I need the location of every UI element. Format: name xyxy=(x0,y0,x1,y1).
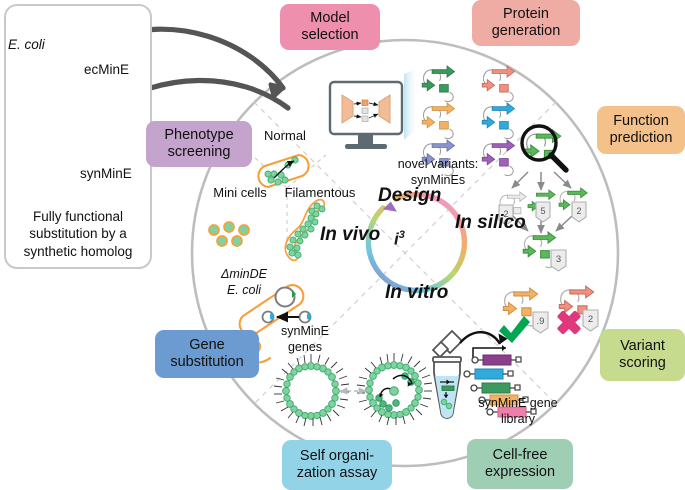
figure-root: 2 5 2 xyxy=(0,0,685,490)
pill-protein-generation[interactable]: Protein generation xyxy=(472,0,580,46)
synmine-genes-line2: genes xyxy=(266,340,344,356)
phenotype-normal-label: Normal xyxy=(250,129,320,144)
i3-cycle-arrow xyxy=(368,194,464,290)
pill-phenotype-screening-line1: Phenotype xyxy=(164,127,233,144)
function-prediction-magnifier xyxy=(522,126,566,170)
i3-superscript: 3 xyxy=(399,229,405,241)
in-silico-line1: In xyxy=(455,212,472,233)
pill-gene-substitution-line1: Gene xyxy=(189,337,224,354)
variant-scoring-pass: .9 xyxy=(499,288,548,343)
synmine-label: synMinE xyxy=(80,166,150,182)
cycle-label-in-vitro: In vitro xyxy=(385,282,448,304)
pill-cell-free-expression-line1: Cell-free xyxy=(493,447,548,464)
inset-caption-line1: Fully functional xyxy=(6,208,150,225)
synmine-genes-line1: synMinE xyxy=(266,324,344,340)
i3-center-symbol: i3 xyxy=(394,229,405,250)
tag-text: 2 xyxy=(576,206,581,216)
design-monitor xyxy=(330,68,418,149)
in-silico-line2: silico xyxy=(477,212,526,233)
pill-model-selection-line2: selection xyxy=(301,27,358,44)
synmine-genes-label: synMinE genes xyxy=(266,324,344,355)
pill-variant-scoring[interactable]: Variant scoring xyxy=(600,329,685,381)
pill-protein-generation-line2: generation xyxy=(492,23,561,40)
construct-3 xyxy=(471,383,520,393)
phenotype-filamentous-label: Filamentous xyxy=(278,186,362,201)
phenotype-mini-cells xyxy=(209,222,249,246)
pill-model-selection-line1: Model xyxy=(310,10,350,27)
gene-library-line2: library xyxy=(456,412,580,428)
pill-cell-free-expression-line2: expression xyxy=(485,464,555,481)
construct-1 xyxy=(472,355,521,365)
pill-phenotype-screening[interactable]: Phenotype screening xyxy=(146,121,252,167)
score-tag-middle: 5 xyxy=(536,202,550,222)
vesicle-polarized xyxy=(357,353,432,425)
construct-2 xyxy=(464,369,513,379)
pill-function-prediction-line2: prediction xyxy=(610,130,673,147)
cross-icon xyxy=(557,310,582,335)
cycle-label-in-vivo: In vivo xyxy=(320,224,380,246)
gene-library-line1: synMinE gene xyxy=(456,396,580,412)
gene-library-label: synMinE gene library xyxy=(456,396,580,427)
pill-variant-scoring-line2: scoring xyxy=(619,355,666,372)
delta-mindE-line2: E. coli xyxy=(208,283,280,299)
novel-variants-annotation: novel variants: synMinEs xyxy=(378,157,498,188)
variant-scoring-fail: 2 xyxy=(557,286,598,335)
cycle-label-design: Design xyxy=(378,185,441,207)
pill-function-prediction[interactable]: Function prediction xyxy=(597,106,685,154)
inset-caption-line3: synthetic homolog xyxy=(6,243,150,260)
phenotype-normal-cell xyxy=(258,155,308,187)
pill-variant-scoring-line1: Variant xyxy=(620,338,665,355)
inset-caption: Fully functional substitution by a synth… xyxy=(6,208,150,260)
ecmine-label: ecMinE xyxy=(84,62,148,78)
inset-caption-line2: substitution by a xyxy=(6,225,150,242)
novel-variants-line1: novel variants: xyxy=(378,157,498,173)
score-tag-right: 2 xyxy=(572,202,586,222)
pill-model-selection[interactable]: Model selection xyxy=(280,4,380,50)
pill-gene-substitution-line2: substitution xyxy=(170,354,243,371)
tag-text: 3 xyxy=(556,254,561,265)
pill-self-organization-assay[interactable]: Self organi- zation assay xyxy=(282,440,392,490)
score-tag-selected: 3 xyxy=(551,250,566,271)
pill-function-prediction-line1: Function xyxy=(613,113,669,130)
vesicle-uniform xyxy=(274,354,349,426)
pill-self-organization-line1: Self organi- xyxy=(300,448,374,465)
delta-mindE-label: ΔminDE E. coli xyxy=(208,267,280,298)
pill-protein-generation-line1: Protein xyxy=(503,6,549,23)
phenotype-mini-cells-label: Mini cells xyxy=(204,186,276,201)
lipid-heads-1 xyxy=(283,363,340,420)
delta-mindE-line1: ΔminDE xyxy=(208,267,280,283)
pill-gene-substitution[interactable]: Gene substitution xyxy=(155,330,259,378)
pill-phenotype-screening-line2: screening xyxy=(168,144,231,161)
tag-text: 2 xyxy=(588,314,593,325)
cycle-label-in-silico: In silico xyxy=(455,212,526,233)
pill-self-organization-line2: zation assay xyxy=(297,465,378,482)
pill-cell-free-expression[interactable]: Cell-free expression xyxy=(467,439,573,489)
tag-text: 5 xyxy=(540,206,545,216)
tag-text: .9 xyxy=(537,316,545,327)
inset-ecoli-label: E. coli xyxy=(8,37,64,53)
